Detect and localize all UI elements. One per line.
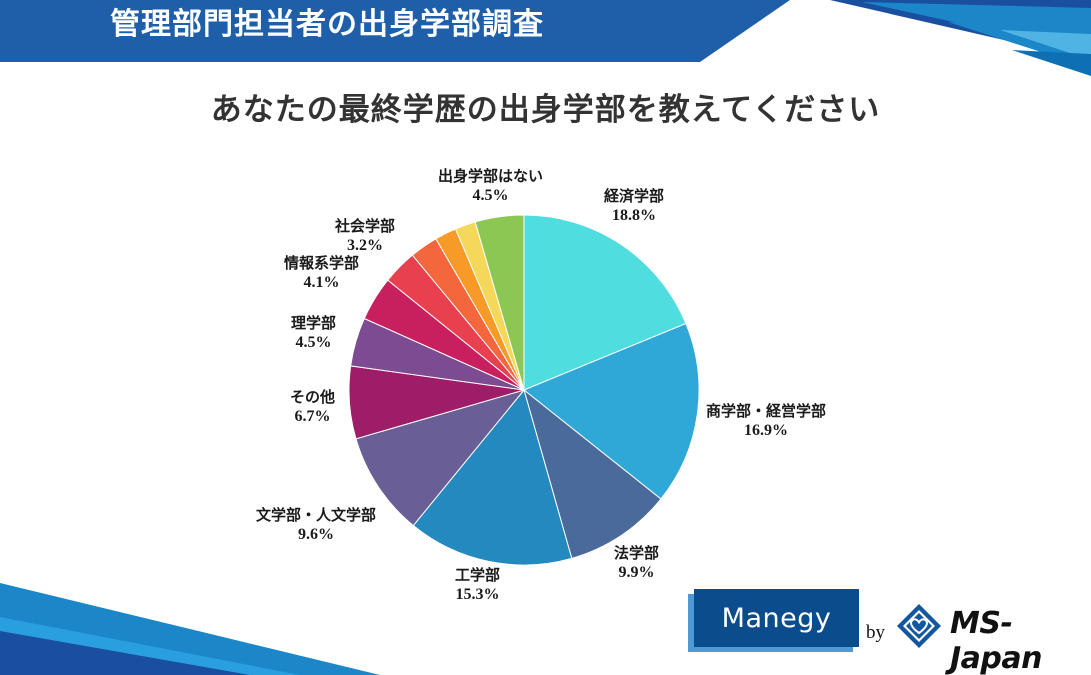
pie-slice-label: 法学部9.9%	[614, 543, 659, 583]
pie-slice-label-name: 文学部・人文学部	[256, 506, 376, 524]
pie-slice-label: 商学部・経営学部16.9%	[706, 401, 826, 441]
pie-slice-label: 工学部15.3%	[455, 565, 500, 605]
pie-slice-label-value: 4.5%	[438, 186, 543, 206]
pie-slice-label-name: 出身学部はない	[438, 167, 543, 185]
pie-slice-label-name: 経済学部	[604, 187, 664, 205]
pie-slice-label: その他6.7%	[290, 387, 335, 427]
pie-slice-label-value: 15.3%	[455, 585, 500, 605]
by-label: by	[866, 622, 885, 644]
pie-slice-label-value: 4.5%	[291, 333, 336, 353]
pie-slice-label-value: 3.2%	[335, 236, 395, 256]
pie-slice-label-value: 16.9%	[706, 421, 826, 441]
pie-slice-label: 出身学部はない4.5%	[438, 166, 543, 206]
pie-slice-label: 情報系学部4.1%	[284, 253, 359, 293]
ms-japan-logo-text: MS-Japan	[950, 606, 1091, 675]
pie-slice-label-value: 9.6%	[256, 525, 376, 545]
footer-decoration	[0, 555, 380, 675]
pie-slice-label: 文学部・人文学部9.6%	[256, 505, 376, 545]
pie-slice-label-value: 18.8%	[604, 206, 664, 226]
pie-slice-label-name: 商学部・経営学部	[706, 402, 826, 420]
pie-chart: 経済学部18.8%商学部・経営学部16.9%法学部9.9%工学部15.3%文学部…	[0, 150, 1091, 620]
pie-slice-label-name: 社会学部	[335, 217, 395, 235]
pie-slice-label-name: 情報系学部	[284, 254, 359, 272]
pie-slice-label-value: 6.7%	[290, 407, 335, 427]
pie-slice-label: 社会学部3.2%	[335, 216, 395, 256]
pie-slice-label-name: その他	[290, 388, 335, 406]
pie-slice-group	[349, 215, 699, 565]
pie-slice-label-name: 法学部	[614, 544, 659, 562]
pie-slice-label-value: 4.1%	[284, 273, 359, 293]
pie-slice-label-name: 工学部	[455, 566, 500, 584]
pie-slice-label: 理学部4.5%	[291, 313, 336, 353]
chart-question-title: あなたの最終学歴の出身学部を教えてください	[0, 84, 1091, 129]
manegy-logo-box: Manegy	[694, 589, 859, 647]
pie-slice-label: 経済学部18.8%	[604, 186, 664, 226]
manegy-logo[interactable]: Manegy	[688, 589, 860, 652]
pie-chart-svg	[0, 150, 1091, 620]
manegy-logo-text: Manegy	[722, 603, 832, 634]
pie-slice-label-name: 理学部	[291, 314, 336, 332]
page-title: 管理部門担当者の出身学部調査	[110, 8, 544, 42]
pie-slice-label-value: 9.9%	[614, 563, 659, 583]
ms-japan-diamond-icon	[895, 602, 943, 650]
slide-canvas: 管理部門担当者の出身学部調査 あなたの最終学歴の出身学部を教えてください 経済学…	[0, 0, 1091, 675]
